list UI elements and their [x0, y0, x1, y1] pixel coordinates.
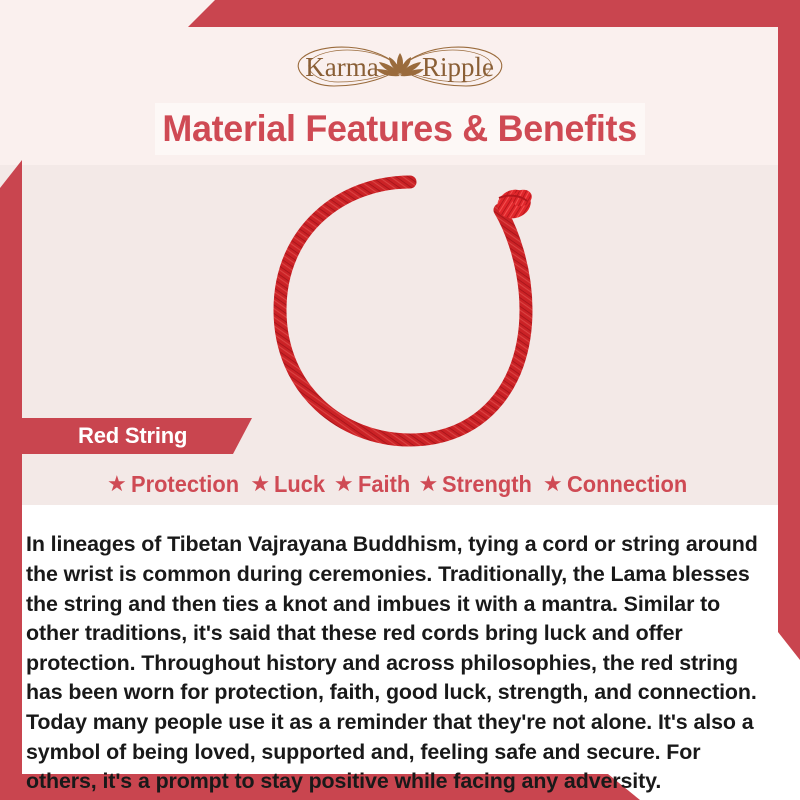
infographic-root: Karma Ripple Material Features & Benefit… — [0, 0, 800, 800]
brand-logo: Karma Ripple — [0, 36, 800, 100]
product-image-red-string-bracelet — [250, 168, 570, 468]
feature-item-luck: ★ Luck — [250, 471, 327, 498]
star-icon: ★ — [419, 473, 439, 495]
feature-item-connection: ★ Connection — [543, 471, 693, 498]
feature-item-protection: ★ Protection — [107, 471, 244, 498]
star-icon: ★ — [250, 473, 270, 495]
feature-item-strength: ★ Strength — [419, 471, 537, 498]
left-red-border — [0, 160, 22, 800]
feature-label: Protection — [131, 471, 239, 498]
star-icon: ★ — [543, 473, 563, 495]
feature-label: Luck — [274, 471, 325, 498]
brand-word-right: Ripple — [422, 52, 494, 82]
material-name-label: Red String — [78, 423, 187, 449]
feature-label: Strength — [442, 471, 532, 498]
feature-label: Connection — [567, 471, 687, 498]
page-title: Material Features & Benefits — [163, 108, 638, 150]
feature-item-faith: ★ Faith — [334, 471, 413, 498]
star-icon: ★ — [107, 473, 127, 495]
page-title-band: Material Features & Benefits — [155, 103, 645, 155]
description-paragraph: In lineages of Tibetan Vajrayana Buddhis… — [26, 530, 774, 796]
feature-label: Faith — [358, 471, 410, 498]
brand-word-left: Karma — [305, 52, 378, 82]
star-icon: ★ — [334, 473, 354, 495]
brand-logo-svg: Karma Ripple — [250, 36, 550, 100]
feature-list: ★ Protection ★ Luck ★ Faith ★ Strength ★… — [22, 466, 778, 502]
material-name-banner: Red String — [22, 418, 252, 454]
bracelet-loop — [280, 182, 526, 440]
